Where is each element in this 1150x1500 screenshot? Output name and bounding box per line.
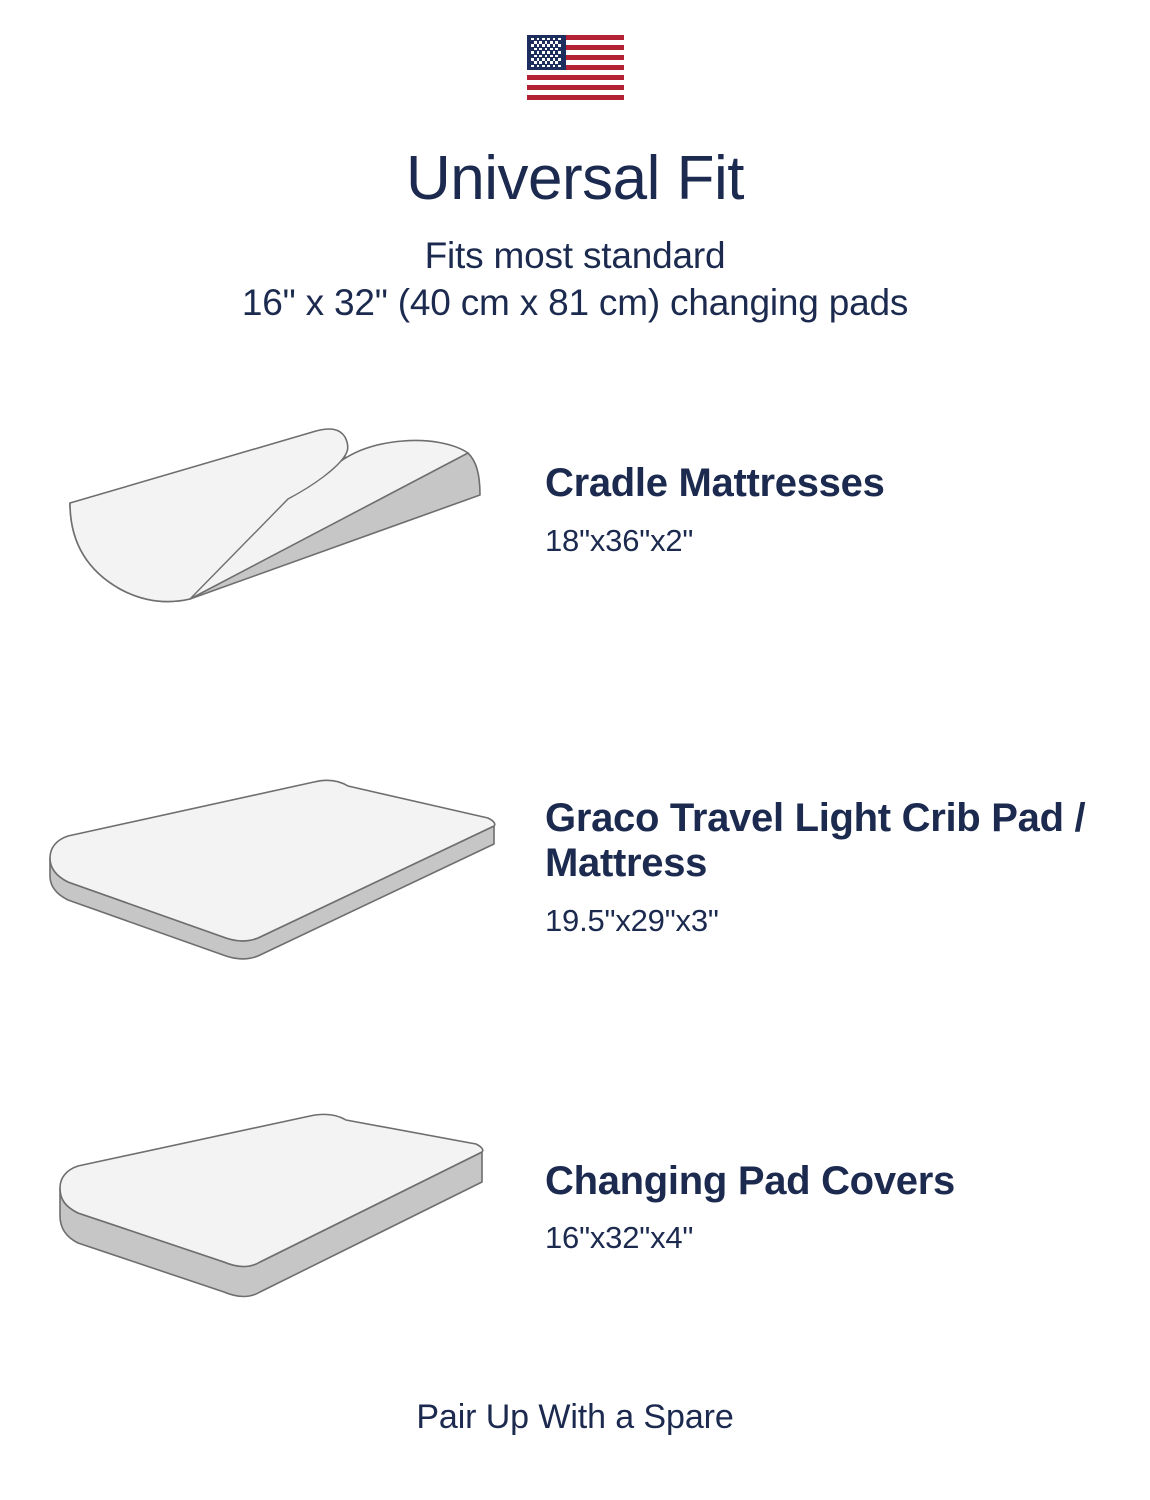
footer-block: Pair Up With a Spare: [0, 1398, 1150, 1437]
flag-stars: [527, 35, 566, 70]
contoured-changing-pad-icon: [0, 403, 545, 618]
flag-container: [0, 35, 1150, 100]
product-row-changing-pad-covers: Changing Pad Covers 16"x32"x4": [0, 1105, 1150, 1310]
product-row-cradle-mattresses: Cradle Mattresses 18"x36"x2": [0, 395, 1150, 625]
product-label-cradle-mattresses: Cradle Mattresses 18"x36"x2": [545, 461, 1150, 559]
product-row-graco-travel-light: Graco Travel Light Crib Pad / Mattress 1…: [0, 760, 1150, 975]
thick-flat-mattress-icon: [0, 1110, 545, 1305]
product-dimensions: 16"x32"x4": [545, 1203, 1110, 1256]
product-dimensions: 18"x36"x2": [545, 506, 1110, 559]
product-title: Changing Pad Covers: [545, 1159, 1110, 1204]
headline-block: Universal Fit Fits most standard 16" x 3…: [0, 148, 1150, 327]
us-flag-icon: [527, 35, 624, 100]
product-label-changing-pad-covers: Changing Pad Covers 16"x32"x4": [545, 1159, 1150, 1257]
product-title: Graco Travel Light Crib Pad / Mattress: [545, 796, 1110, 886]
subtitle-line-2: 16" x 32" (40 cm x 81 cm) changing pads: [0, 279, 1150, 326]
product-label-graco-travel-light: Graco Travel Light Crib Pad / Mattress 1…: [545, 796, 1150, 939]
footer-tagline: Pair Up With a Spare: [0, 1398, 1150, 1437]
product-title: Cradle Mattresses: [545, 461, 1110, 506]
subtitle-line-1: Fits most standard: [0, 210, 1150, 279]
thin-flat-mattress-icon: [0, 768, 545, 968]
page-title: Universal Fit: [0, 148, 1150, 210]
product-dimensions: 19.5"x29"x3": [545, 886, 1110, 939]
